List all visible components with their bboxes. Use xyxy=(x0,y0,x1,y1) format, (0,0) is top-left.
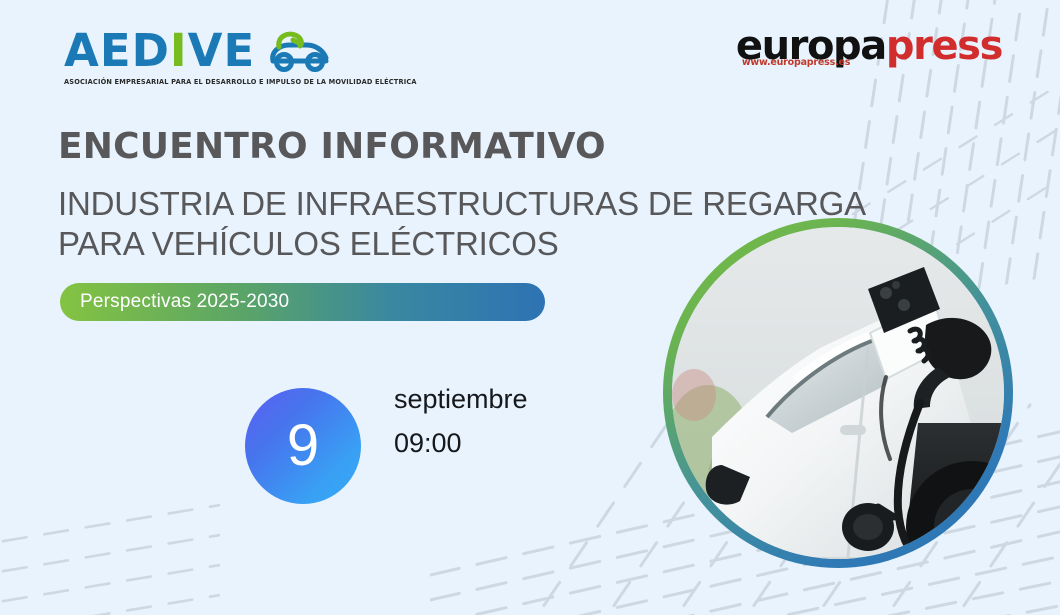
aedive-tagline: ASOCIACIÓN EMPRESARIAL PARA EL DESARROLL… xyxy=(64,78,354,86)
ev-charging-photo-illustration xyxy=(672,227,1004,559)
perspectives-badge-label: Perspectivas 2025-2030 xyxy=(60,291,289,313)
event-kicker: ENCUENTRO INFORMATIVO xyxy=(58,126,606,167)
decorative-lines-bottomleft xyxy=(0,495,220,615)
europapress-press: press xyxy=(886,23,1002,69)
event-day-number: 9 xyxy=(287,417,319,475)
event-photo xyxy=(672,227,1004,559)
event-poster: AEDIVE ASOCIACIÓN EMPRESARIAL PARA EL DE… xyxy=(0,0,1060,615)
aedive-logo[interactable]: AEDIVE ASOCIACIÓN EMPRESARIAL PARA EL DE… xyxy=(64,28,354,86)
event-date-text: septiembre 09:00 xyxy=(394,385,528,458)
perspectives-badge: Perspectivas 2025-2030 xyxy=(60,283,545,321)
event-title-line-1: INDUSTRIA DE INFRAESTRUCTURAS DE REGARGA xyxy=(58,184,866,224)
event-photo-ring xyxy=(663,218,1013,568)
event-month: septiembre xyxy=(394,385,528,415)
europapress-url: www.europapress.es xyxy=(742,57,850,68)
europapress-logo[interactable]: europapress www.europapress.es xyxy=(736,26,1002,66)
electric-car-plug-icon xyxy=(267,30,333,72)
event-time: 09:00 xyxy=(394,429,528,459)
aedive-wordmark-part2: VE xyxy=(188,24,256,77)
aedive-wordmark: AEDIVE xyxy=(64,28,255,73)
aedive-wordmark-part1: AED xyxy=(64,24,170,77)
aedive-wordmark-i: I xyxy=(170,24,188,77)
event-day-circle: 9 xyxy=(245,388,361,504)
